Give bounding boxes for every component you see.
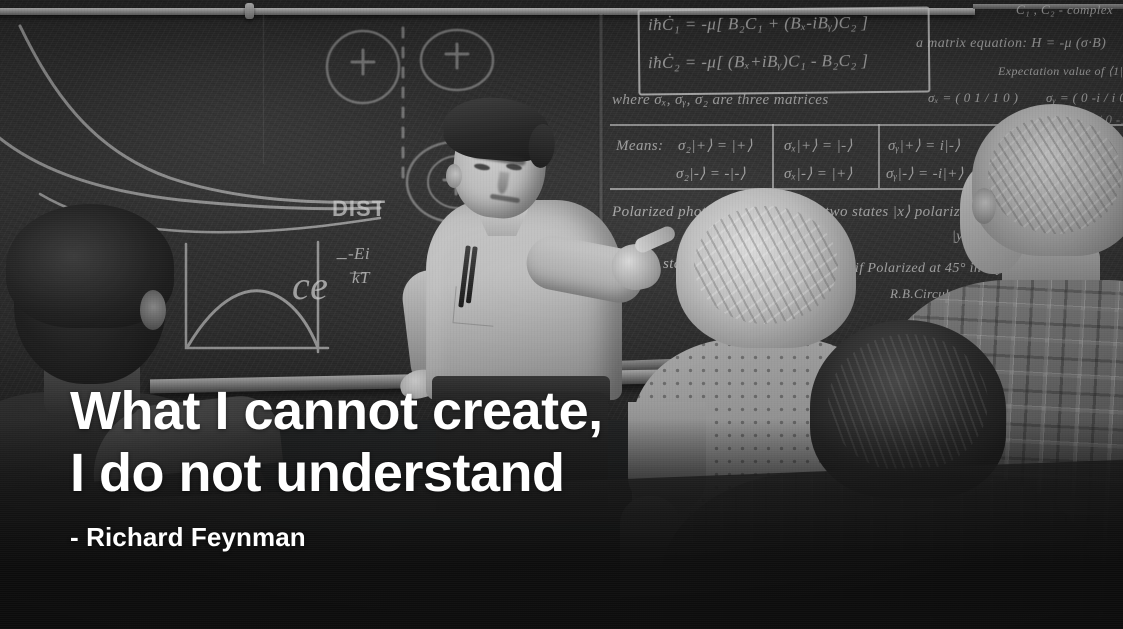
student-left-ear [140,290,166,330]
quote-image-canvas: DIST ce − -Ei — kT iħĊ₁ = -μ[ B₂C₁ + (B… [0,0,1123,629]
feynman-ear [446,164,462,188]
quote-overlay: What I cannot create, I do not understan… [70,380,770,552]
chalk-equation-box [638,6,931,95]
chalk-table-divider-1 [772,124,774,188]
chalk-rail-top-right [973,4,1123,9]
quote-line-1: What I cannot create, [70,380,770,442]
quote-attribution: - Richard Feynman [70,522,770,552]
student-right-hair [972,104,1123,256]
lecturer-feynman [398,92,656,392]
quote-line-2: I do not understand [70,442,770,504]
student-right-ear [972,188,996,224]
chalk-rail-knob [245,3,254,19]
blackboard-seam-left [262,14,265,164]
chalk-table-divider-2 [878,124,880,188]
